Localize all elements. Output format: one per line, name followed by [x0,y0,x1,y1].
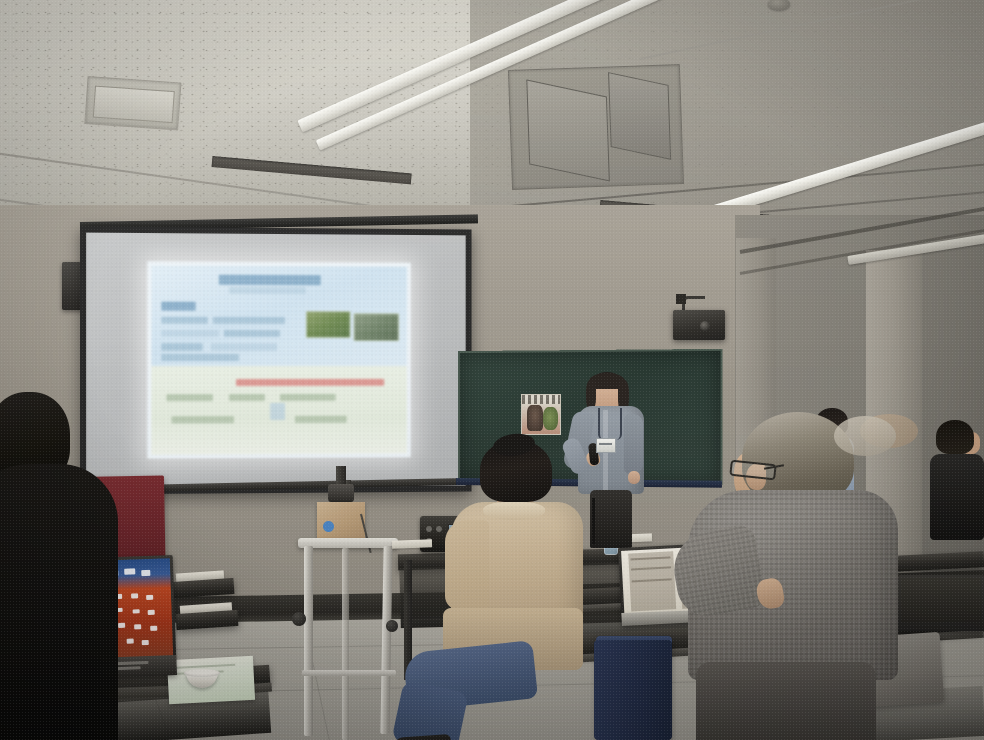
slide-thumbnail [354,313,399,341]
attendee-elderly [660,412,920,740]
slide-text-blur [167,394,213,402]
poster-text-glyph [133,609,140,614]
slide-text-blur [211,343,278,351]
slide-text-blur [162,330,219,338]
stand-leg [342,548,349,740]
slide-title-blur [218,275,320,285]
badge-text-line [599,443,612,445]
raised-arm [668,523,767,621]
slide-thumbnail [306,311,351,337]
attendee-back-dark-jacket [930,420,984,540]
projector-mount-box [676,294,686,304]
stand-adjust-knob[interactable] [386,620,398,632]
trouser-seam [592,498,595,544]
recessed-air-vent [84,76,181,130]
projector-lens-icon [700,321,710,331]
slide-accent-line [236,379,384,387]
slide-text-blur [229,394,265,402]
slide-text-blur [162,301,196,311]
wall-projector [673,310,725,340]
poster-text-glyph [141,570,151,576]
poster-figure [543,407,557,430]
stand-crossbar [302,670,396,676]
slide-text-blur [224,330,280,338]
left-shoulder [445,520,489,610]
poster-text-glyph [148,610,155,615]
classroom-photo: Lecture Room Presentation A presenter wi… [0,0,984,740]
torso [0,464,118,740]
trousers [590,490,632,548]
stand-adjust-knob[interactable] [292,612,306,626]
right-hand [628,471,640,484]
chalkboard-poster [521,394,561,435]
hair [936,420,974,454]
slide-title-blur [229,286,306,294]
knit-texture [668,523,767,621]
slide-text-blur [162,354,239,361]
slide-text-blur [172,417,234,424]
stand-leg [304,546,313,736]
slide-text-blur [270,403,285,420]
poster-figure [527,405,543,431]
camera-head [328,484,354,502]
cardboard-box [317,502,365,540]
poster-text-glyph [150,626,157,631]
hair-highlight [834,416,896,456]
poster-text-glyph [142,640,149,645]
camera-neck [336,466,346,486]
vent-blade [526,79,610,181]
collar [483,502,545,520]
slide-text-blur [162,316,209,324]
projected-slide [147,261,411,458]
poster-title-band [522,395,560,404]
poster-text-glyph [146,594,153,599]
bin [594,640,672,740]
slide-text-blur [162,343,203,351]
slide-text-blur [213,317,285,325]
lap [696,662,876,740]
poster-text-glyph [131,593,138,598]
attendee-tan-sweater [405,440,585,740]
slide-content [151,265,407,454]
poster-text-glyph [127,639,134,644]
poster-text-glyph [124,568,135,574]
torso [930,454,984,540]
attendee-foreground-left [0,392,120,740]
slide-text-blur [280,394,336,402]
vent-grille [93,86,174,123]
bowl-rim [184,669,220,677]
box-sticker-icon [323,521,334,532]
slide-text-blur [295,416,346,423]
lanyard [598,408,622,440]
recessed-air-vent [508,64,684,190]
poster-text-glyph [134,625,141,630]
equipment-stand[interactable] [298,500,404,740]
stand-leg [380,546,392,734]
vent-blade [608,72,671,160]
right-arm [624,414,643,474]
name-badge [596,438,616,453]
